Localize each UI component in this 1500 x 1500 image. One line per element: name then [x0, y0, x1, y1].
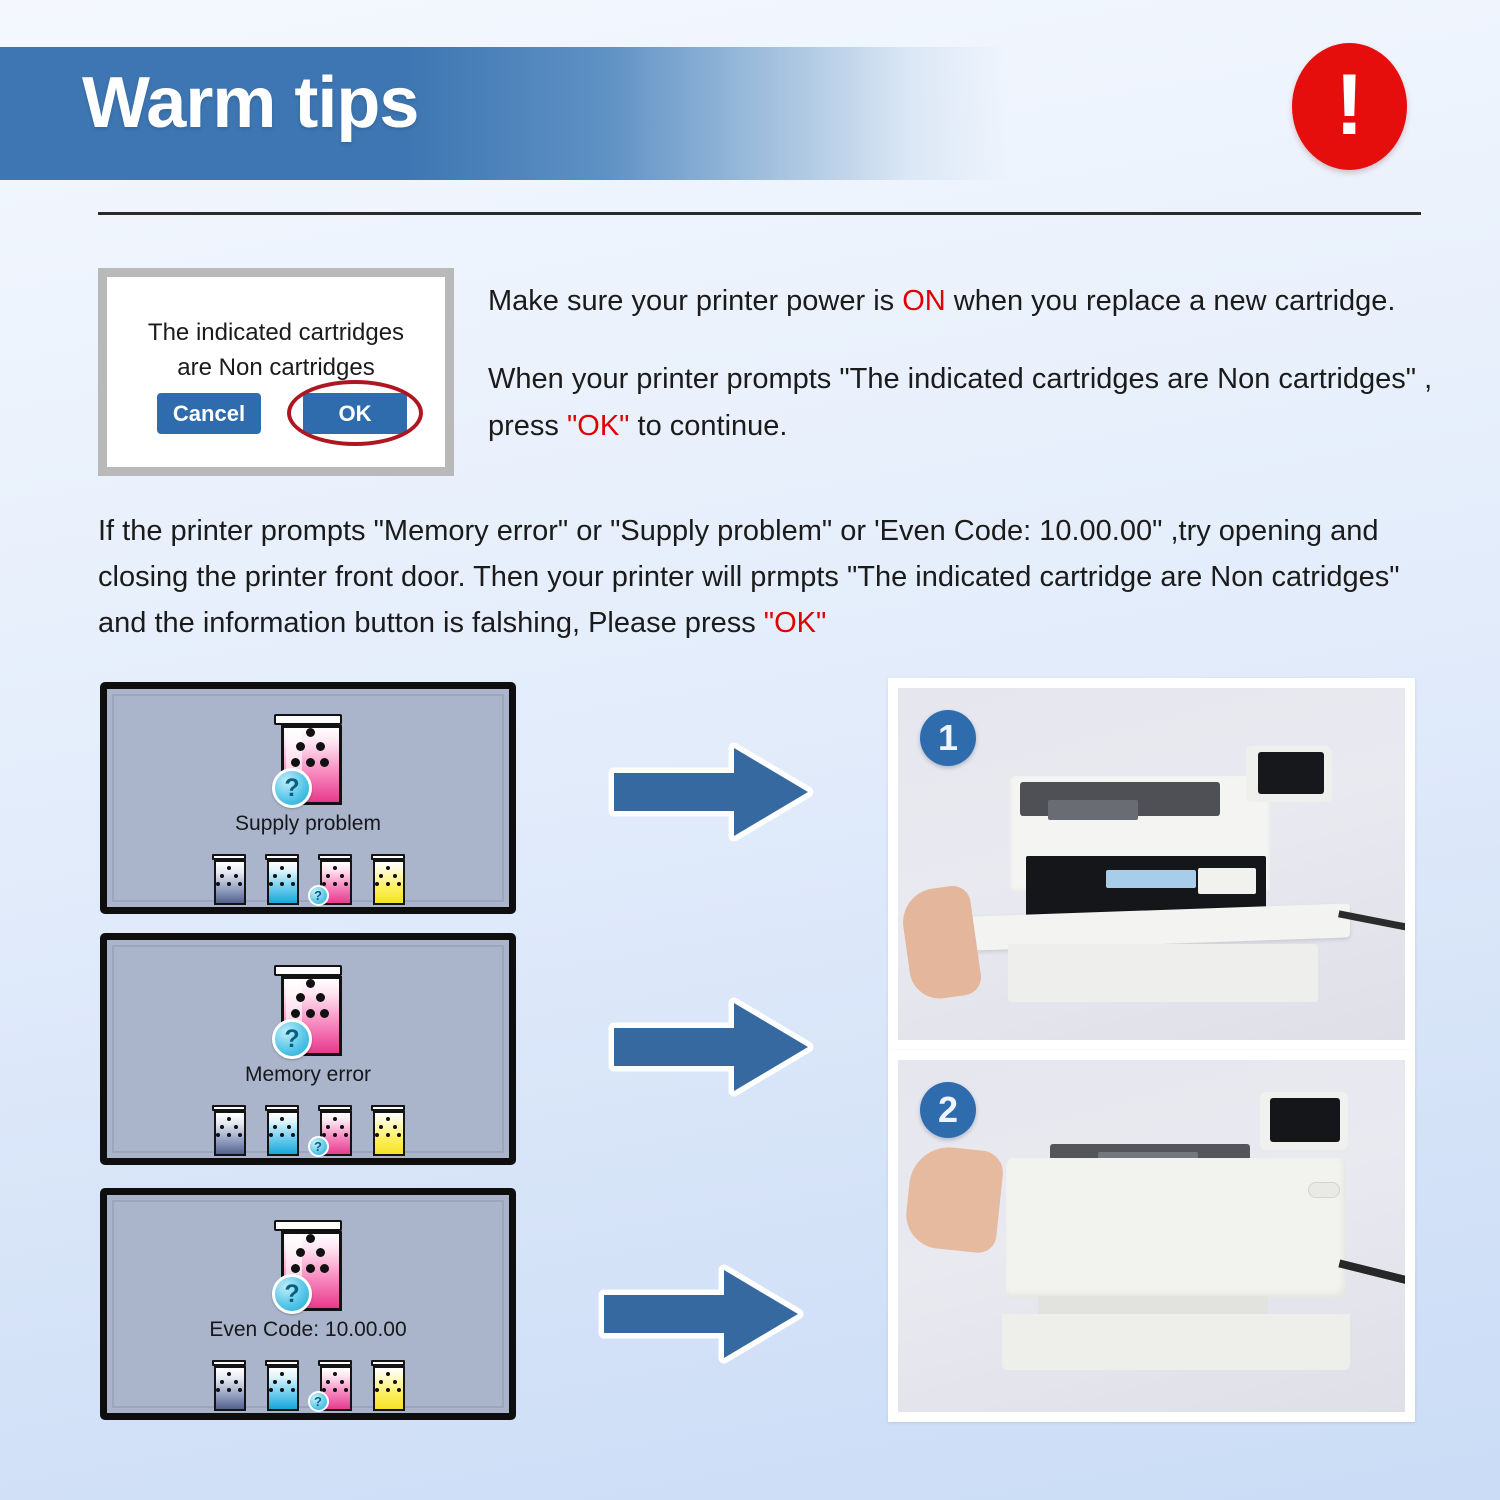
photo-step-1-frame: 1	[888, 678, 1415, 1050]
toner-cartridge-icon-large-3: ?	[272, 1220, 344, 1314]
cartridge-status-row-2: ?	[114, 1105, 502, 1157]
screen-status-label-1: Supply problem	[114, 812, 502, 836]
toner-lid	[274, 714, 342, 725]
screen-status-label-2: Memory error	[114, 1063, 502, 1087]
photo-step-2-frame: 2	[888, 1050, 1415, 1422]
instruction-paragraph-3: If the printer prompts "Memory error" or…	[98, 508, 1428, 646]
instruction-3-ok: "OK"	[764, 607, 827, 639]
printer-display-screen	[1270, 1098, 1340, 1142]
instruction-1-on: ON	[902, 285, 946, 317]
cartridge-magenta-2: ?	[317, 1105, 353, 1157]
arrow-right-icon-3	[596, 1262, 806, 1366]
cartridge-status-row-3: ?	[114, 1360, 502, 1412]
cartridge-black-3	[211, 1360, 247, 1412]
arrow-right-icon-1	[606, 740, 816, 844]
printer-paper-tray	[1008, 944, 1318, 1002]
instructions-right: Make sure your printer power is ON when …	[488, 278, 1443, 481]
printer-screen-supply-problem: ? Supply problem ?	[100, 682, 516, 914]
cartridge-yellow-2	[370, 1105, 406, 1157]
cancel-button[interactable]: Cancel	[157, 393, 261, 434]
instruction-2-ok: "OK"	[567, 410, 630, 442]
question-mark-badge-small-2: ?	[308, 1136, 329, 1157]
screen-inner-3: ? Even Code: 10.00.00 ?	[112, 1200, 504, 1408]
printer-screen-even-code: ? Even Code: 10.00.00 ?	[100, 1188, 516, 1420]
power-cord	[1338, 1259, 1405, 1288]
hand-opening-door	[899, 884, 984, 1003]
printer-screen-memory-error: ? Memory error ?	[100, 933, 516, 1165]
printer-instruction-label	[1198, 868, 1256, 894]
cartridge-black-2	[211, 1105, 247, 1157]
question-mark-badge-large-1: ?	[272, 768, 312, 808]
printer-dialog-mock: The indicated cartridges are Non cartrid…	[98, 268, 454, 476]
cartridge-magenta-1: ?	[317, 854, 353, 906]
dialog-message: The indicated cartridges are Non cartrid…	[107, 315, 445, 385]
question-mark-badge-small-1: ?	[308, 885, 329, 906]
step-number-badge-2: 2	[920, 1082, 976, 1138]
printer-base-tray	[1002, 1314, 1350, 1370]
toner-lid	[274, 1220, 342, 1231]
toner-cartridge-icon-large-2: ?	[272, 965, 344, 1059]
screen-inner-2: ? Memory error ?	[112, 945, 504, 1153]
printer-display-screen	[1258, 752, 1324, 794]
hand-closing-door	[903, 1143, 1005, 1254]
exclamation-glyph: !	[1292, 61, 1407, 149]
cartridge-cyan-3	[264, 1360, 300, 1412]
dialog-message-line-1: The indicated cartridges	[107, 315, 445, 350]
header-divider	[98, 212, 1421, 215]
printer-output-tray-extension	[1048, 800, 1138, 820]
instruction-paragraph-2: When your printer prompts "The indicated…	[488, 356, 1443, 450]
step-number-badge-1: 1	[920, 710, 976, 766]
printer-chassis-closed	[1006, 1158, 1346, 1298]
screen-status-label-3: Even Code: 10.00.00	[114, 1318, 502, 1342]
arrow-right-icon-2	[606, 995, 816, 1099]
screen-inner-1: ? Supply problem ?	[112, 694, 504, 902]
power-button[interactable]	[1308, 1182, 1340, 1198]
cartridge-cyan-2	[264, 1105, 300, 1157]
toner-cartridge-blue-handle	[1106, 870, 1196, 888]
instruction-2-text-b: to continue.	[629, 410, 787, 442]
dialog-message-line-2: are Non cartridges	[107, 350, 445, 385]
ok-button[interactable]: OK	[303, 393, 407, 434]
cartridge-cyan-1	[264, 854, 300, 906]
instruction-paragraph-1: Make sure your printer power is ON when …	[488, 278, 1443, 325]
toner-cartridge-icon-large-1: ?	[272, 714, 344, 808]
cartridge-black-1	[211, 854, 247, 906]
photo-step-2: 2	[898, 1060, 1405, 1412]
photo-step-1: 1	[898, 688, 1405, 1040]
cartridge-yellow-1	[370, 854, 406, 906]
question-mark-badge-small-3: ?	[308, 1391, 329, 1412]
instruction-1-text-a: Make sure your printer power is	[488, 285, 902, 317]
toner-lid	[274, 965, 342, 976]
cartridge-magenta-3: ?	[317, 1360, 353, 1412]
cartridge-yellow-3	[370, 1360, 406, 1412]
question-mark-badge-large-2: ?	[272, 1019, 312, 1059]
instruction-3-text-a: If the printer prompts "Memory error" or…	[98, 515, 1400, 639]
cartridge-status-row-1: ?	[114, 854, 502, 906]
question-mark-badge-large-3: ?	[272, 1274, 312, 1314]
instruction-1-text-b: when you replace a new cartridge.	[946, 285, 1396, 317]
exclamation-circle-icon: !	[1292, 43, 1407, 170]
page-title: Warm tips	[82, 60, 418, 146]
